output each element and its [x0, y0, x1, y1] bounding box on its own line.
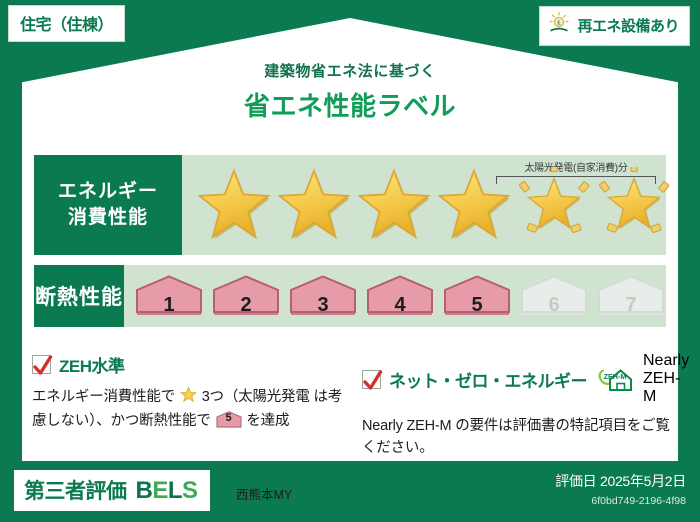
solar-sun-icon: E	[547, 11, 571, 40]
star-rating-group	[196, 155, 672, 255]
energy-star-icon	[436, 167, 512, 243]
title-main: 省エネ性能ラベル	[0, 86, 700, 123]
label-title-block: 建築物省エネ法に基づく 省エネ性能ラベル	[0, 60, 700, 123]
energy-performance-label: 住宅（住棟） E 再エネ設備あり 建築物省エネ法に基づく 省エネ性能ラベル	[0, 0, 700, 522]
insulation-level-number: 2	[240, 295, 251, 315]
evaluation-id: 6f0bd749-2196-4f98	[555, 495, 686, 507]
insulation-level-badge: 3	[288, 274, 358, 318]
bels-letter-s: S	[182, 477, 198, 504]
inline-star-icon	[180, 391, 201, 407]
insulation-level-number: 5	[471, 295, 482, 315]
insulation-level-number: 6	[548, 295, 559, 315]
zeh-m-logo: ZEH-M	[595, 366, 635, 393]
zeh-standard-header: ZEH水準	[32, 352, 350, 377]
zeh-m-caption-line1: Nearly	[643, 352, 689, 370]
insulation-level-number: 7	[625, 295, 636, 315]
third-party-evaluation-label: 第三者評価	[24, 475, 127, 505]
insulation-level-badge: 7	[596, 274, 666, 318]
bels-letter-l: L	[168, 477, 182, 504]
insulation-performance-row: 断熱性能 1234567	[34, 265, 666, 327]
net-zero-energy-body: Nearly ZEH-M の要件は評価書の特記項目をご覧ください。	[362, 415, 672, 460]
insulation-level-track: 1234567	[124, 265, 666, 327]
net-zero-energy-title: ネット・ゼロ・エネルギー	[389, 367, 587, 392]
bels-letter-b: B	[136, 477, 153, 504]
energy-star-icon	[196, 167, 272, 243]
insulation-level-number: 4	[394, 295, 405, 315]
zeh-body-part1: エネルギー消費性能で	[32, 389, 175, 405]
site-name: 西熊本MY	[236, 484, 292, 503]
zeh-m-caption-line2: ZEH-M	[643, 370, 689, 406]
zeh-body-part2: 3つ（太陽光発電	[202, 389, 310, 405]
insulation-level-number: 1	[163, 295, 174, 315]
building-type-label: 住宅（住棟）	[20, 17, 113, 34]
insulation-level-badge: 5	[442, 274, 512, 318]
energy-star-track: 太陽光発電(自家消費)分	[182, 155, 666, 255]
net-zero-energy-section: ネット・ゼロ・エネルギー ZEH-M Nearly ZEH-M Nearly Z…	[362, 352, 672, 460]
insulation-performance-label: 断熱性能	[34, 265, 124, 327]
building-type-badge: 住宅（住棟）	[8, 5, 125, 42]
insulation-level-badge: 4	[365, 274, 435, 318]
insulation-level-badge: 2	[211, 274, 281, 318]
title-subtitle: 建築物省エネ法に基づく	[0, 60, 700, 81]
net-zero-energy-checkbox	[362, 370, 381, 389]
insulation-label-text: 断熱性能	[35, 281, 123, 311]
bels-wordmark: BELS	[136, 477, 198, 505]
solar-bonus-star-icon	[516, 167, 592, 243]
solar-bonus-star-icon	[596, 167, 672, 243]
zeh-standard-body: エネルギー消費性能で 3つ（太陽光発電 は考慮しない）、かつ断熱性能で 5 を達…	[32, 386, 350, 433]
zeh-standard-section: ZEH水準 エネルギー消費性能で 3つ（太陽光発電 は考慮しない）、かつ断熱性能…	[32, 352, 350, 433]
evaluation-date: 評価日 2025年5月2日	[555, 471, 686, 491]
energy-performance-row: エネルギー 消費性能 太陽光発電(自家消費)分	[34, 155, 666, 255]
svg-text:ZEH-M: ZEH-M	[604, 372, 627, 381]
energy-performance-label: エネルギー 消費性能	[34, 155, 182, 255]
zeh-standard-checkbox	[32, 355, 51, 374]
svg-text:E: E	[558, 20, 562, 26]
zeh-body-part4: を達成	[246, 413, 289, 429]
insulation-level-badge: 6	[519, 274, 589, 318]
energy-star-icon	[356, 167, 432, 243]
renewable-equipment-label: 再エネ設備あり	[577, 15, 679, 36]
label-footer: 第三者評価 BELS 西熊本MY 評価日 2025年5月2日 6f0bd749-…	[0, 462, 700, 522]
zeh-m-logo-caption: Nearly ZEH-M	[643, 352, 689, 406]
zeh-standard-title: ZEH水準	[59, 352, 125, 377]
bels-letter-e: E	[152, 477, 168, 504]
insulation-level-number: 3	[317, 295, 328, 315]
energy-star-icon	[276, 167, 352, 243]
bels-plate: 第三者評価 BELS	[14, 470, 210, 511]
energy-label-line2: 消費性能	[68, 205, 148, 231]
net-zero-energy-header: ネット・ゼロ・エネルギー ZEH-M Nearly ZEH-M	[362, 352, 672, 406]
energy-label-line1: エネルギー	[58, 179, 158, 205]
renewable-equipment-badge: E 再エネ設備あり	[539, 6, 690, 46]
inline-badge-number: 5	[216, 411, 242, 428]
evaluation-date-block: 評価日 2025年5月2日 6f0bd749-2196-4f98	[555, 471, 686, 507]
inline-insulation-badge: 5	[216, 411, 242, 428]
insulation-level-badge: 1	[134, 274, 204, 318]
